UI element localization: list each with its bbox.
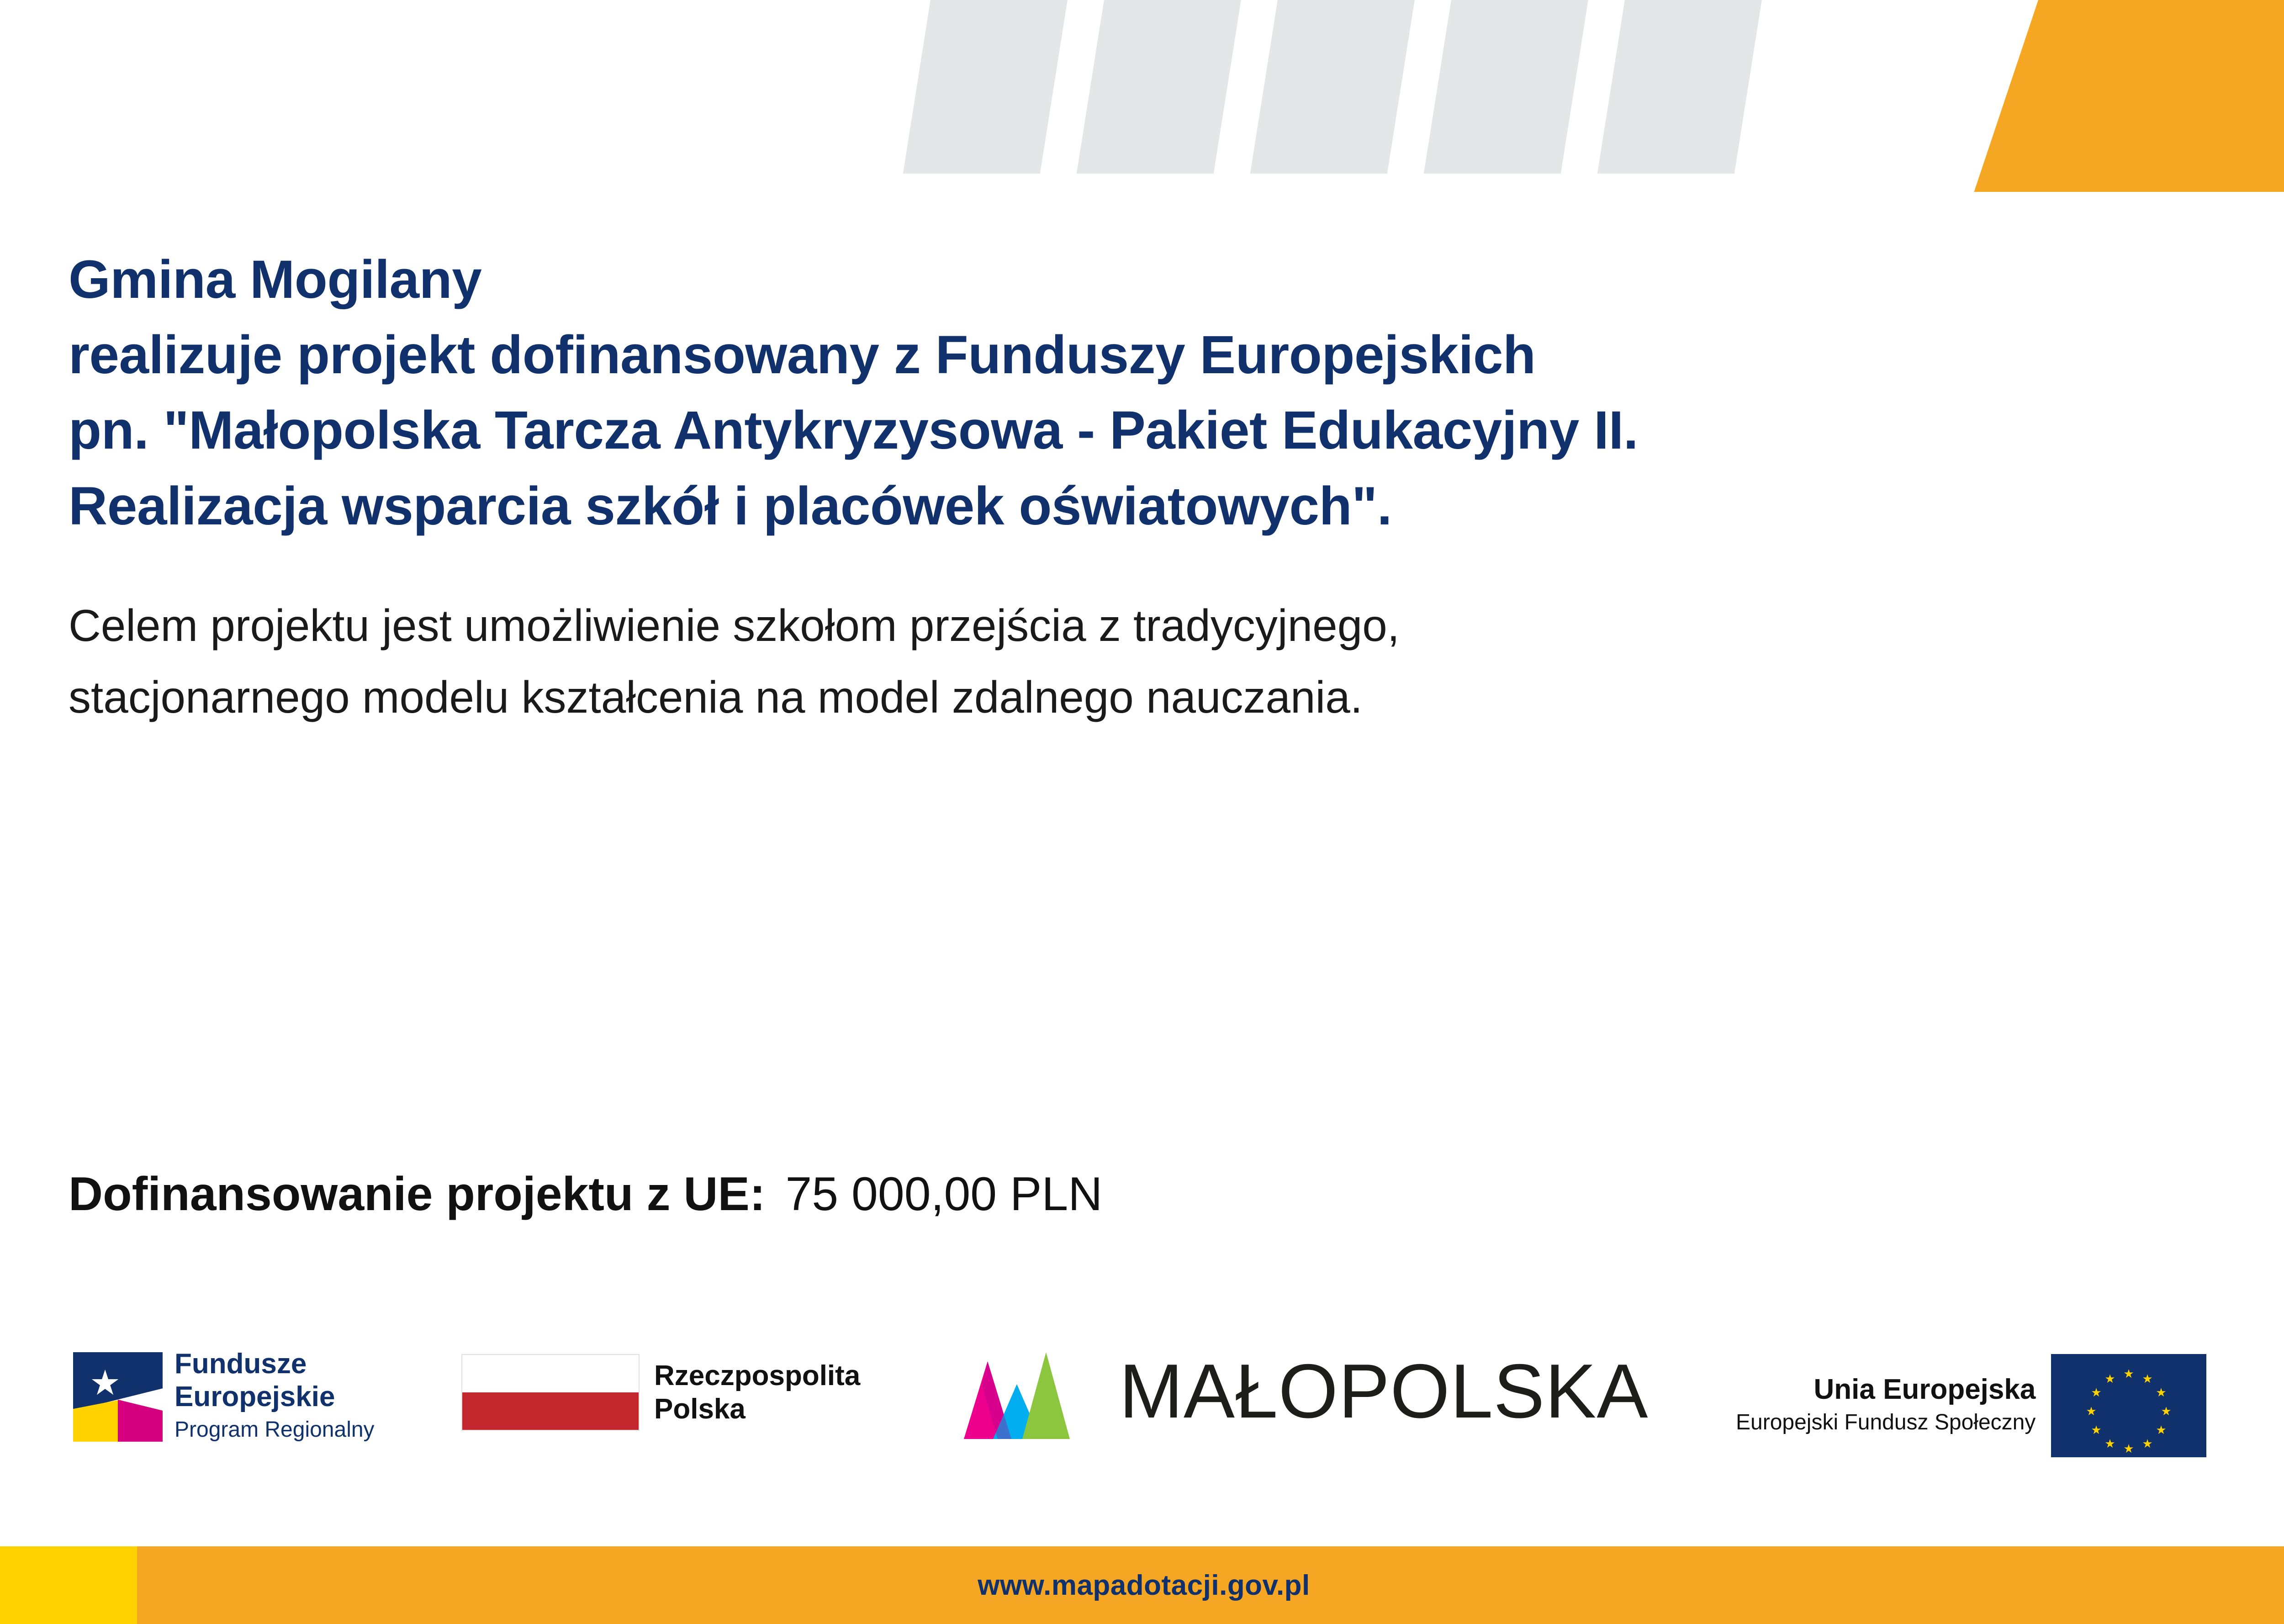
- svg-text:★: ★: [2124, 1442, 2134, 1455]
- malopolska-wordmark: MAŁOPOLSKA: [1119, 1347, 1648, 1435]
- svg-text:★: ★: [2105, 1437, 2115, 1450]
- svg-text:★: ★: [2091, 1423, 2102, 1437]
- svg-text:★: ★: [2142, 1372, 2153, 1386]
- headline-line-4: Realizacja wsparcia szkół i placówek ośw…: [69, 469, 2078, 544]
- headline-line-1: Gmina Mogilany: [69, 242, 2078, 317]
- logo-strip: ★ Fundusze Europejskie Program Regionaln…: [0, 1338, 2284, 1512]
- funding-amount: 75 000,00 PLN: [785, 1167, 1102, 1222]
- ue-line-1: Unia Europejska: [1736, 1373, 2036, 1407]
- logo-unia-europejska: Unia Europejska Europejski Fundusz Społe…: [1736, 1354, 2206, 1457]
- headline: Gmina Mogilany realizuje projekt dofinan…: [69, 242, 2078, 544]
- fundusze-europejskie-text: Fundusze Europejskie Program Regionalny: [174, 1348, 375, 1446]
- svg-text:★: ★: [2091, 1386, 2102, 1399]
- unia-europejska-text: Unia Europejska Europejski Fundusz Społe…: [1736, 1373, 2036, 1439]
- footer-url[interactable]: www.mapadotacji.gov.pl: [0, 1546, 2284, 1624]
- svg-text:★: ★: [2161, 1404, 2172, 1418]
- fe-pink-shape: [118, 1400, 163, 1442]
- logo-fundusze-europejskie: ★ Fundusze Europejskie Program Regionaln…: [73, 1348, 375, 1446]
- description: Celem projektu jest umożliwienie szkołom…: [69, 590, 2078, 733]
- fe-line-2: Europejskie: [174, 1381, 375, 1413]
- fundusze-europejskie-icon: ★: [73, 1352, 163, 1442]
- footer-bar: www.mapadotacji.gov.pl: [0, 1546, 2284, 1624]
- headline-line-3: pn. "Małopolska Tarcza Antykryzysowa - P…: [69, 393, 2078, 468]
- eu-stars-icon: ★ ★ ★ ★ ★ ★ ★ ★ ★ ★ ★ ★: [2051, 1354, 2206, 1457]
- malopolska-icon: [964, 1343, 1101, 1439]
- description-line-2: stacjonarnego modelu kształcenia na mode…: [69, 661, 2078, 733]
- polish-flag-icon: [461, 1354, 640, 1431]
- description-line-1: Celem projektu jest umożliwienie szkołom…: [69, 590, 2078, 661]
- flag-white-stripe: [462, 1355, 639, 1392]
- top-decorative-band: [0, 0, 2284, 192]
- fe-line-1: Fundusze: [174, 1348, 375, 1381]
- grey-slab-4: [1424, 0, 1591, 174]
- rp-line-1: Rzeczpospolita: [654, 1359, 860, 1392]
- logo-malopolska: MAŁOPOLSKA: [964, 1343, 1648, 1439]
- poster-root: Gmina Mogilany realizuje projekt dofinan…: [0, 0, 2284, 1624]
- star-icon: ★: [90, 1366, 121, 1401]
- svg-text:★: ★: [2105, 1372, 2115, 1386]
- flag-red-stripe: [462, 1392, 639, 1430]
- funding-label: Dofinansowanie projektu z UE:: [69, 1167, 765, 1222]
- eu-flag-icon: ★ ★ ★ ★ ★ ★ ★ ★ ★ ★ ★ ★: [2051, 1354, 2206, 1457]
- logo-rzeczpospolita-polska: Rzeczpospolita Polska: [461, 1354, 860, 1431]
- grey-slab-5: [1597, 0, 1765, 174]
- ue-line-2: Europejski Fundusz Społeczny: [1736, 1407, 2036, 1439]
- rp-line-2: Polska: [654, 1392, 860, 1426]
- grey-slab-3: [1250, 0, 1418, 174]
- svg-text:★: ★: [2156, 1386, 2167, 1399]
- grey-slab-1: [903, 0, 1071, 174]
- svg-text:★: ★: [2156, 1423, 2167, 1437]
- fe-line-3: Program Regionalny: [174, 1413, 375, 1446]
- main-content: Gmina Mogilany realizuje projekt dofinan…: [69, 242, 2078, 733]
- funding-row: Dofinansowanie projektu z UE: 75 000,00 …: [69, 1167, 1102, 1222]
- svg-text:★: ★: [2142, 1437, 2153, 1450]
- rzeczpospolita-text: Rzeczpospolita Polska: [654, 1359, 860, 1426]
- headline-line-2: realizuje projekt dofinansowany z Fundus…: [69, 317, 2078, 393]
- svg-text:★: ★: [2124, 1367, 2134, 1381]
- grey-slab-2: [1077, 0, 1244, 174]
- svg-text:★: ★: [2086, 1404, 2097, 1418]
